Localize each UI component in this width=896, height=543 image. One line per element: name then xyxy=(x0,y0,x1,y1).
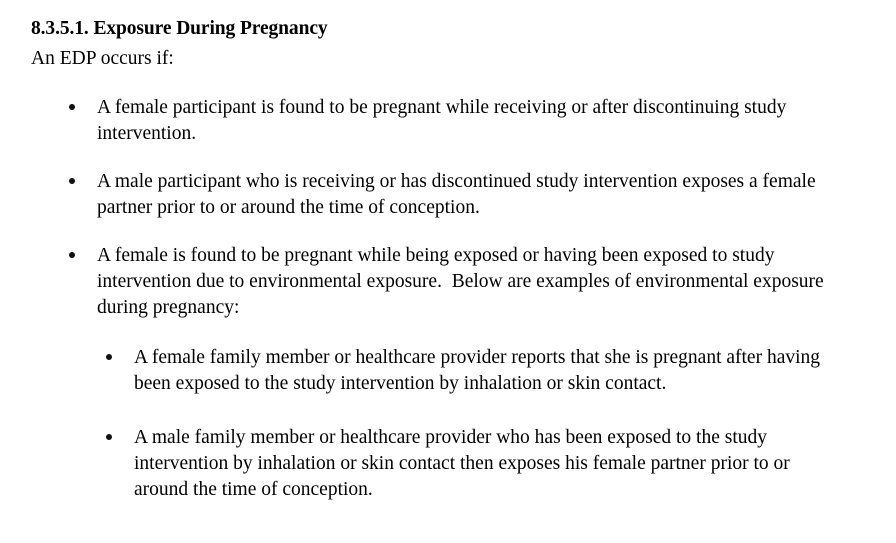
environmental-exposure-examples-list: A female family member or healthcare pro… xyxy=(97,345,846,503)
list-item-text: A female family member or healthcare pro… xyxy=(134,345,846,397)
list-item: A female participant is found to be preg… xyxy=(31,95,870,147)
list-item-text: A female participant is found to be preg… xyxy=(97,95,846,147)
bullet-point-icon xyxy=(69,169,95,195)
list-item-text: A male family member or healthcare provi… xyxy=(134,425,846,503)
list-item: A female family member or healthcare pro… xyxy=(97,345,846,397)
list-item-text: A male participant who is receiving or h… xyxy=(97,169,846,221)
list-item: A male participant who is receiving or h… xyxy=(31,169,870,221)
bullet-point-icon xyxy=(106,425,132,451)
list-item: A male family member or healthcare provi… xyxy=(97,425,846,503)
bullet-point-icon xyxy=(106,345,132,371)
list-item: A female is found to be pregnant while b… xyxy=(31,243,870,503)
intro-paragraph: An EDP occurs if: xyxy=(31,46,870,72)
bullet-point-icon xyxy=(69,95,95,121)
bullet-point-icon xyxy=(69,243,95,269)
document-page: 8.3.5.1. Exposure During Pregnancy An ED… xyxy=(0,0,896,543)
list-item-text: A female is found to be pregnant while b… xyxy=(97,243,846,321)
section-heading: 8.3.5.1. Exposure During Pregnancy xyxy=(31,16,870,42)
edp-criteria-list: A female participant is found to be preg… xyxy=(31,95,870,503)
